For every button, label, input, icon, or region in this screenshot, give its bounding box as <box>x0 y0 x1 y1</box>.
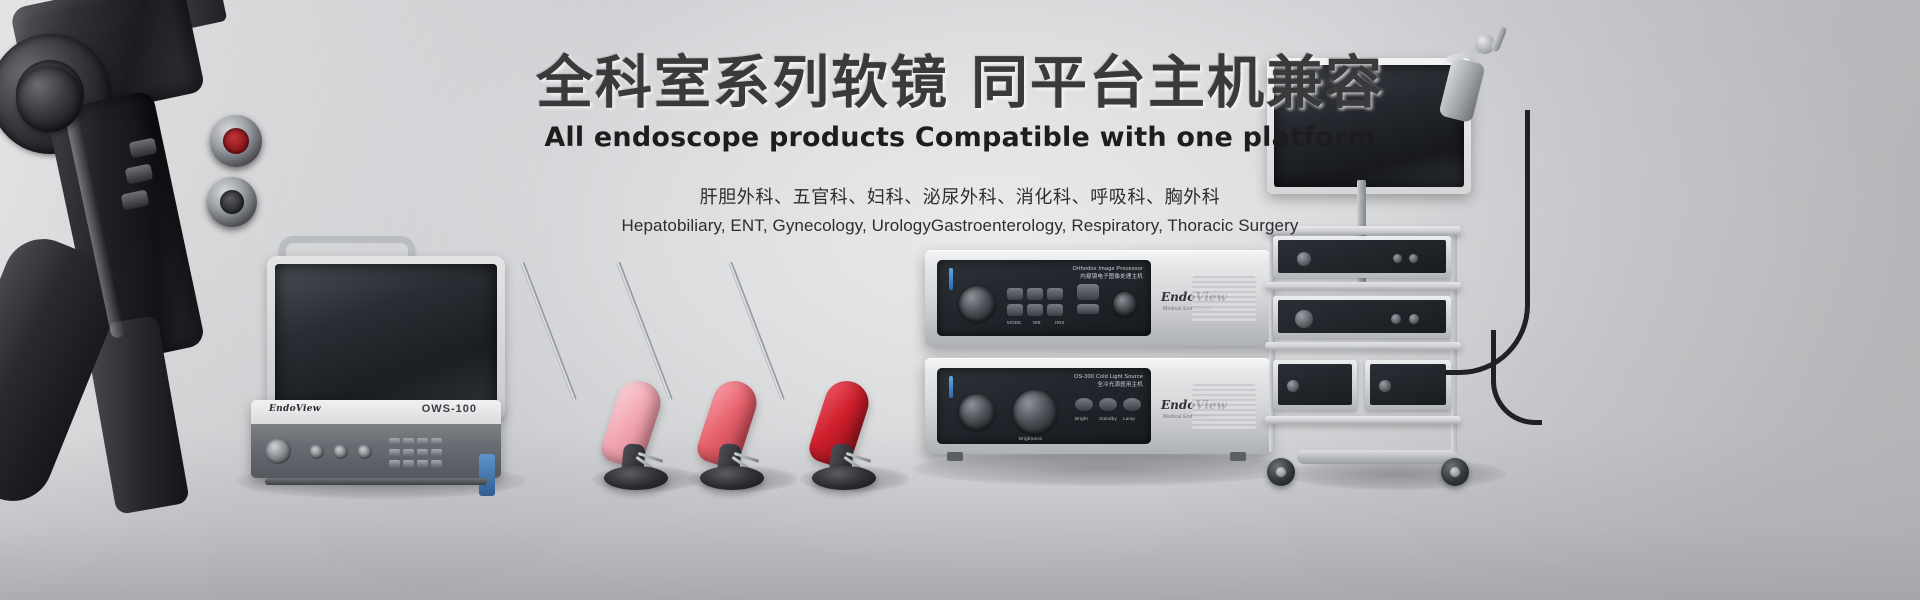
processor-main-knob <box>959 286 995 322</box>
cart-shelf-3 <box>1265 342 1461 350</box>
light-source-dial-label: Brightness <box>1019 436 1042 441</box>
page-title: 全科室系列软镜同平台主机兼容 <box>0 52 1920 116</box>
workstation-model-label: OWS-100 <box>422 403 477 415</box>
light-source-button <box>1099 398 1117 411</box>
light-source-title: OS-300 Cold Light Source 全冷光源医用主机 <box>1074 373 1143 390</box>
light-source-dial <box>1013 390 1057 434</box>
workstation-key <box>417 449 428 457</box>
light-source-button-label: Lamp <box>1123 416 1135 421</box>
workstation-blue-indicator <box>479 454 495 496</box>
workstation-key <box>431 460 442 468</box>
image-processor-unit: Orthodox Image Processor 内窥镜电子图像处理主机 MOD… <box>925 250 1270 346</box>
light-source-button <box>1075 398 1093 411</box>
workstation-port-b <box>333 444 348 459</box>
light-source-title-en: OS-300 Cold Light Source <box>1074 373 1143 381</box>
cart-device-1-led <box>1409 254 1418 263</box>
cart-wheel-left <box>1267 458 1295 486</box>
processor-side-knob <box>1113 292 1137 316</box>
processor-button <box>1007 304 1023 316</box>
workstation-keypad <box>389 438 442 468</box>
scope-shaft <box>520 261 577 401</box>
workstation-base: EndoView OWS-100 <box>251 400 501 478</box>
processor-button <box>1047 304 1063 316</box>
light-source-blue-stripe <box>949 376 953 398</box>
workstation-display-bezel <box>267 256 505 420</box>
workstation-port-a <box>309 444 324 459</box>
headline-part-2: 同平台主机兼容 <box>971 50 1384 116</box>
workstation-key <box>417 438 428 446</box>
description-chinese: 肝胆外科、五官科、妇科、泌尿外科、消化科、呼吸科、胸外科 <box>0 183 1920 209</box>
processor-vent <box>1192 276 1256 322</box>
processor-button <box>1007 288 1023 300</box>
workstation-key <box>431 438 442 446</box>
cart-device-2-knob <box>1295 310 1313 328</box>
cart-device-2-led <box>1391 314 1401 324</box>
processor-port-large <box>1077 284 1099 300</box>
cart-device-3 <box>1273 360 1357 410</box>
processor-button <box>1027 288 1043 300</box>
workstation-port-main <box>265 438 291 464</box>
processor-port-small <box>1077 304 1099 314</box>
workstation-brand-label: EndoView <box>269 404 321 414</box>
processor-button-label: MODE <box>1007 320 1021 325</box>
cart-shelf-2 <box>1265 282 1461 290</box>
light-source-button <box>1123 398 1141 411</box>
cart-base-plate <box>1297 450 1457 464</box>
workstation-key <box>389 460 400 468</box>
processor-title: Orthodox Image Processor 内窥镜电子图像处理主机 <box>1072 265 1143 282</box>
workstation-key <box>403 438 414 446</box>
cart-device-1-led <box>1393 254 1402 263</box>
cart-scope-tube-lower <box>1491 330 1542 425</box>
workstation-key <box>389 449 400 457</box>
scope-shaft <box>616 261 673 401</box>
processor-front-panel: Orthodox Image Processor 内窥镜电子图像处理主机 MOD… <box>937 260 1151 336</box>
promo-banner: 全科室系列软镜同平台主机兼容 All endoscope products Co… <box>0 0 1920 600</box>
processor-stack: Orthodox Image Processor 内窥镜电子图像处理主机 MOD… <box>925 250 1270 465</box>
processor-title-en: Orthodox Image Processor <box>1072 265 1143 273</box>
light-source-button-label: Bright <box>1075 416 1088 421</box>
text-block: 全科室系列软镜同平台主机兼容 All endoscope products Co… <box>0 52 1920 236</box>
light-source-vent <box>1192 384 1256 430</box>
stack-foot-left <box>947 452 963 461</box>
description-english: Hepatobiliary, ENT, Gynecology, UrologyG… <box>0 216 1920 236</box>
cart-wheel-right <box>1441 458 1469 486</box>
cart-device-2-led <box>1409 314 1419 324</box>
workstation-feet <box>265 478 487 485</box>
cart-device-4 <box>1365 360 1451 410</box>
workstation-display <box>275 264 497 412</box>
rigid-scope-red <box>720 262 870 492</box>
light-source-connector <box>959 394 995 430</box>
scope-stand <box>812 466 876 490</box>
processor-button <box>1047 288 1063 300</box>
cart-device-1-knob <box>1297 252 1311 266</box>
processor-blue-stripe <box>949 268 953 290</box>
workstation-key <box>403 460 414 468</box>
workstation-key <box>403 449 414 457</box>
light-source-unit: OS-300 Cold Light Source 全冷光源医用主机 Bright… <box>925 358 1270 454</box>
processor-button-label: WB <box>1033 320 1041 325</box>
endoscope-workstation: EndoView OWS-100 <box>243 250 503 480</box>
cart-device-4-knob <box>1379 380 1391 392</box>
cart-device-1 <box>1273 236 1451 278</box>
processor-title-cn: 内窥镜电子图像处理主机 <box>1072 273 1143 281</box>
workstation-key <box>431 449 442 457</box>
workstation-key <box>417 460 428 468</box>
light-source-title-cn: 全冷光源医用主机 <box>1074 381 1143 389</box>
workstation-key <box>389 438 400 446</box>
workstation-control-panel <box>251 424 501 478</box>
light-source-button-label: Standby <box>1099 416 1117 421</box>
headline-english: All endoscope products Compatible with o… <box>0 122 1920 153</box>
cart-device-3-knob <box>1287 380 1299 392</box>
cart-device-2 <box>1273 296 1451 338</box>
cart-shelf-4 <box>1265 416 1461 424</box>
processor-button <box>1027 304 1043 316</box>
workstation-port-c <box>357 444 372 459</box>
processor-button-label: IRIS <box>1055 320 1065 325</box>
light-source-front-panel: OS-300 Cold Light Source 全冷光源医用主机 Bright… <box>937 368 1151 444</box>
stack-foot-right <box>1230 452 1246 461</box>
scope-shaft <box>728 261 785 401</box>
headline-part-1: 全科室系列软镜 <box>536 50 949 116</box>
